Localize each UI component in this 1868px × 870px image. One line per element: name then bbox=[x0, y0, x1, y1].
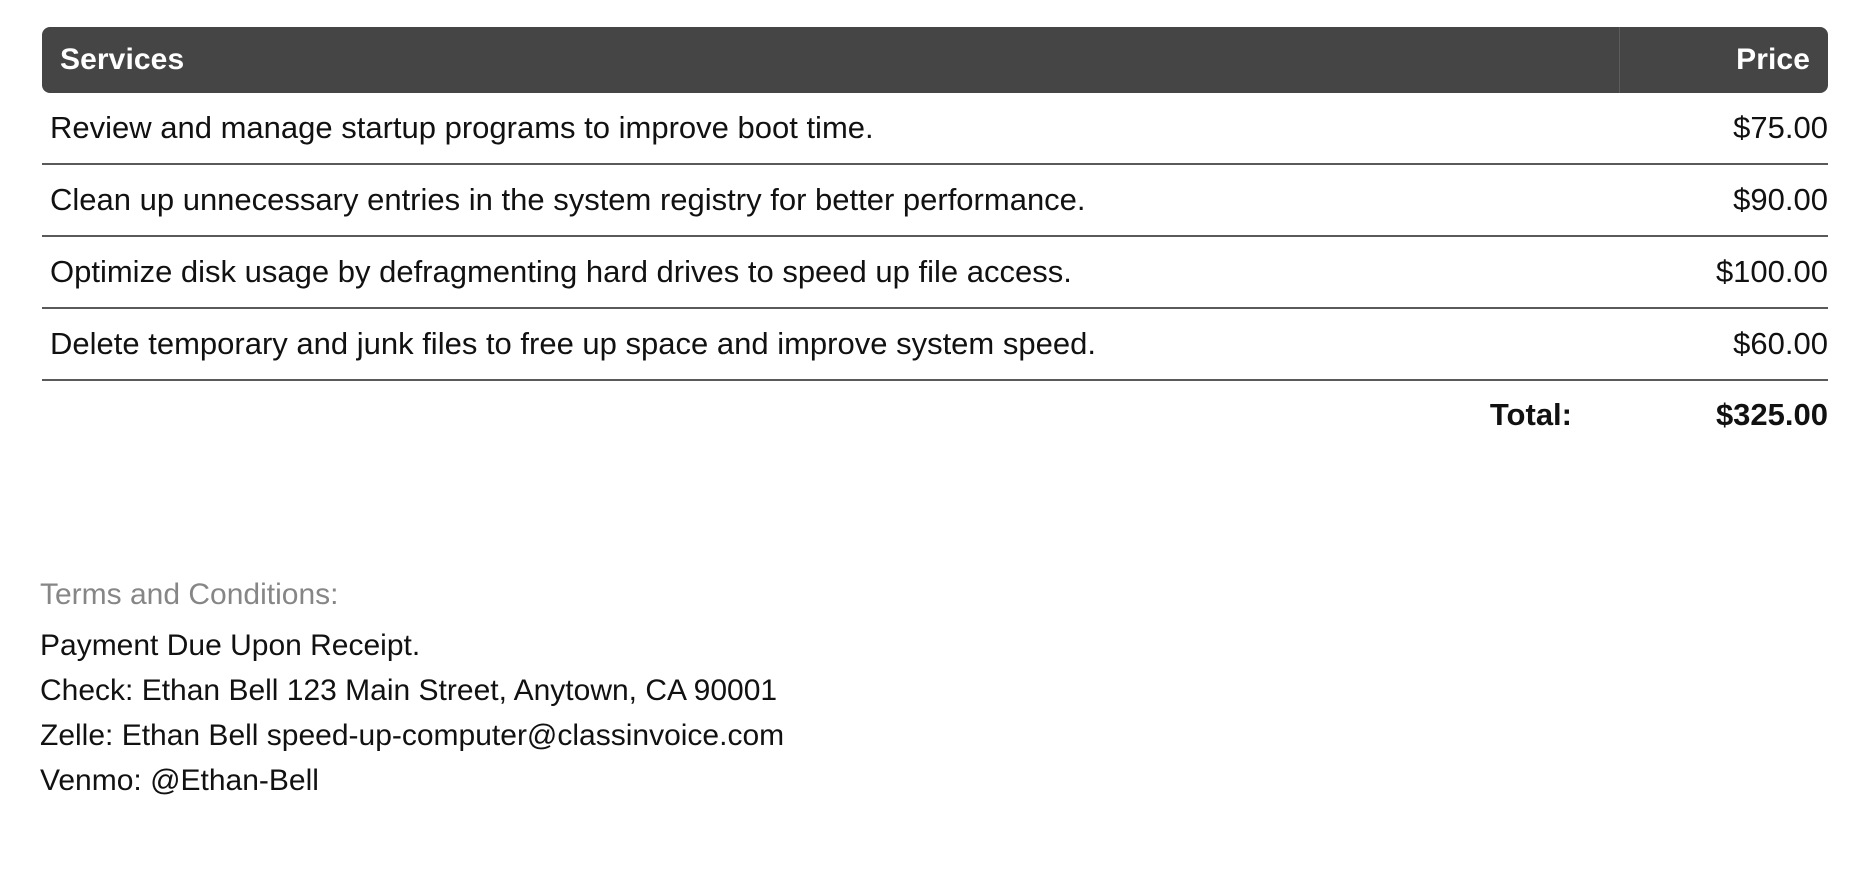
terms-title: Terms and Conditions: bbox=[40, 578, 1440, 612]
column-header-services: Services bbox=[42, 43, 1619, 77]
total-value: $325.00 bbox=[1668, 397, 1828, 433]
terms-line-check: Check: Ethan Bell 123 Main Street, Anyto… bbox=[40, 668, 1440, 713]
terms-line-venmo: Venmo: @Ethan-Bell bbox=[40, 758, 1440, 803]
invoice-page: Services Price Review and manage startup… bbox=[0, 0, 1868, 870]
terms-line-zelle: Zelle: Ethan Bell speed-up-computer@clas… bbox=[40, 713, 1440, 758]
total-row: Total: $325.00 bbox=[42, 381, 1828, 449]
table-header-row: Services Price bbox=[42, 27, 1828, 93]
service-price: $100.00 bbox=[1568, 254, 1828, 290]
service-description: Optimize disk usage by defragmenting har… bbox=[42, 254, 1568, 290]
total-label: Total: bbox=[1490, 397, 1668, 433]
service-description: Delete temporary and junk files to free … bbox=[42, 326, 1568, 362]
column-header-price: Price bbox=[1620, 43, 1828, 77]
service-price: $60.00 bbox=[1568, 326, 1828, 362]
terms-line-payment-due: Payment Due Upon Receipt. bbox=[40, 623, 1440, 668]
service-description: Review and manage startup programs to im… bbox=[42, 110, 1568, 146]
terms-and-conditions-section: Terms and Conditions: Payment Due Upon R… bbox=[40, 578, 1440, 803]
service-price: $90.00 bbox=[1568, 182, 1828, 218]
table-row: Optimize disk usage by defragmenting har… bbox=[42, 237, 1828, 309]
service-description: Clean up unnecessary entries in the syst… bbox=[42, 182, 1568, 218]
table-row: Delete temporary and junk files to free … bbox=[42, 309, 1828, 381]
service-price: $75.00 bbox=[1568, 110, 1828, 146]
services-table: Services Price Review and manage startup… bbox=[42, 27, 1828, 449]
table-row: Clean up unnecessary entries in the syst… bbox=[42, 165, 1828, 237]
table-row: Review and manage startup programs to im… bbox=[42, 93, 1828, 165]
